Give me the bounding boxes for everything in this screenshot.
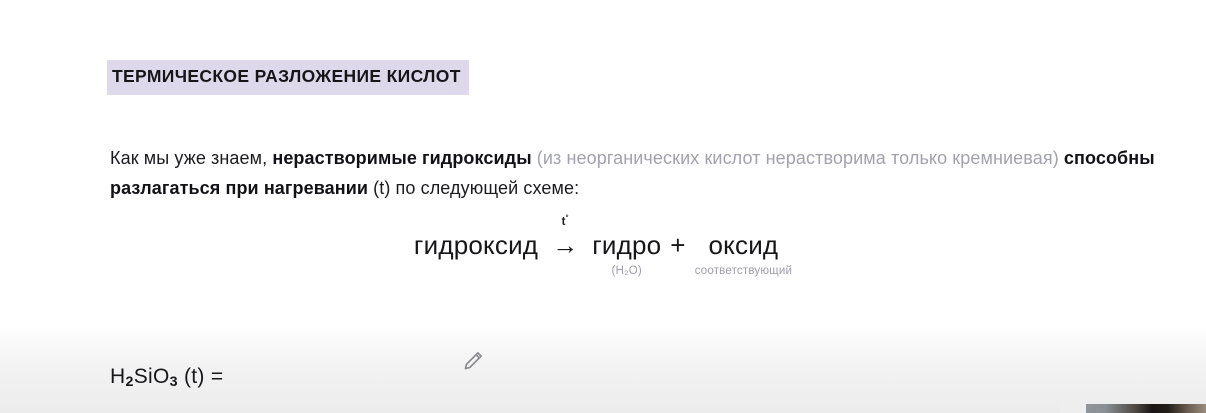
scheme-left-term-sub (414, 264, 538, 278)
scheme-middle-term-sub: (H₂O) (592, 264, 661, 278)
equation-tail: (t) = (178, 365, 224, 388)
page-title: ТЕРМИЧЕСКОЕ РАЗЛОЖЕНИЕ КИСЛОТ (107, 60, 469, 95)
page-title-text: ТЕРМИЧЕСКОЕ РАЗЛОЖЕНИЕ КИСЛОТ (107, 60, 469, 95)
scheme-left-term: гидроксид (413, 228, 539, 278)
equation-subscript-3: 3 (170, 374, 178, 390)
scheme-middle-term: гидро (H₂O) (591, 228, 662, 278)
scheme-arrow-icon: → (548, 228, 582, 262)
body-paragraph: Как мы уже знаем, нерастворимые гидрокси… (110, 143, 1165, 203)
scheme-middle-term-label: гидро (592, 228, 661, 262)
scheme-left-term-label: гидроксид (414, 228, 538, 262)
paragraph-segment-1: Как мы уже знаем, (110, 148, 272, 168)
scheme-right-term: оксид соответствующий (694, 228, 793, 278)
scheme-right-term-sub: соответствующий (695, 264, 792, 278)
scheme-plus-sub (670, 264, 685, 278)
bottom-right-clipped-strip (1086, 404, 1206, 413)
slide-page: ТЕРМИЧЕСКОЕ РАЗЛОЖЕНИЕ КИСЛОТ Как мы уже… (0, 0, 1206, 413)
equation-line: H2SiO3 (t) = (110, 365, 223, 389)
pencil-icon (460, 348, 486, 374)
scheme-right-term-label: оксид (695, 228, 792, 262)
equation-element-h: H (110, 365, 125, 388)
reaction-scheme-row: гидроксид t° → гидро (H₂O) + оксид соотв… (413, 228, 793, 278)
scheme-plus-label: + (670, 228, 685, 262)
reaction-scheme: гидроксид t° → гидро (H₂O) + оксид соотв… (0, 228, 1206, 278)
equation-element-sio: SiO (134, 365, 170, 388)
corner-strip-gap (1060, 400, 1087, 413)
scheme-arrow-group: t° → (548, 228, 582, 262)
scheme-condition-label: t° (548, 212, 582, 228)
paragraph-segment-2-bold: нерастворимые гидроксиды (272, 148, 531, 168)
scheme-plus-sign: + (669, 228, 686, 278)
paragraph-segment-3-muted: (из неорганических кислот нерастворима т… (532, 148, 1064, 168)
equation-subscript-2: 2 (125, 374, 133, 390)
paragraph-segment-5: (t) по следующей схеме: (368, 178, 579, 198)
scheme-condition-degree: ° (566, 214, 569, 222)
